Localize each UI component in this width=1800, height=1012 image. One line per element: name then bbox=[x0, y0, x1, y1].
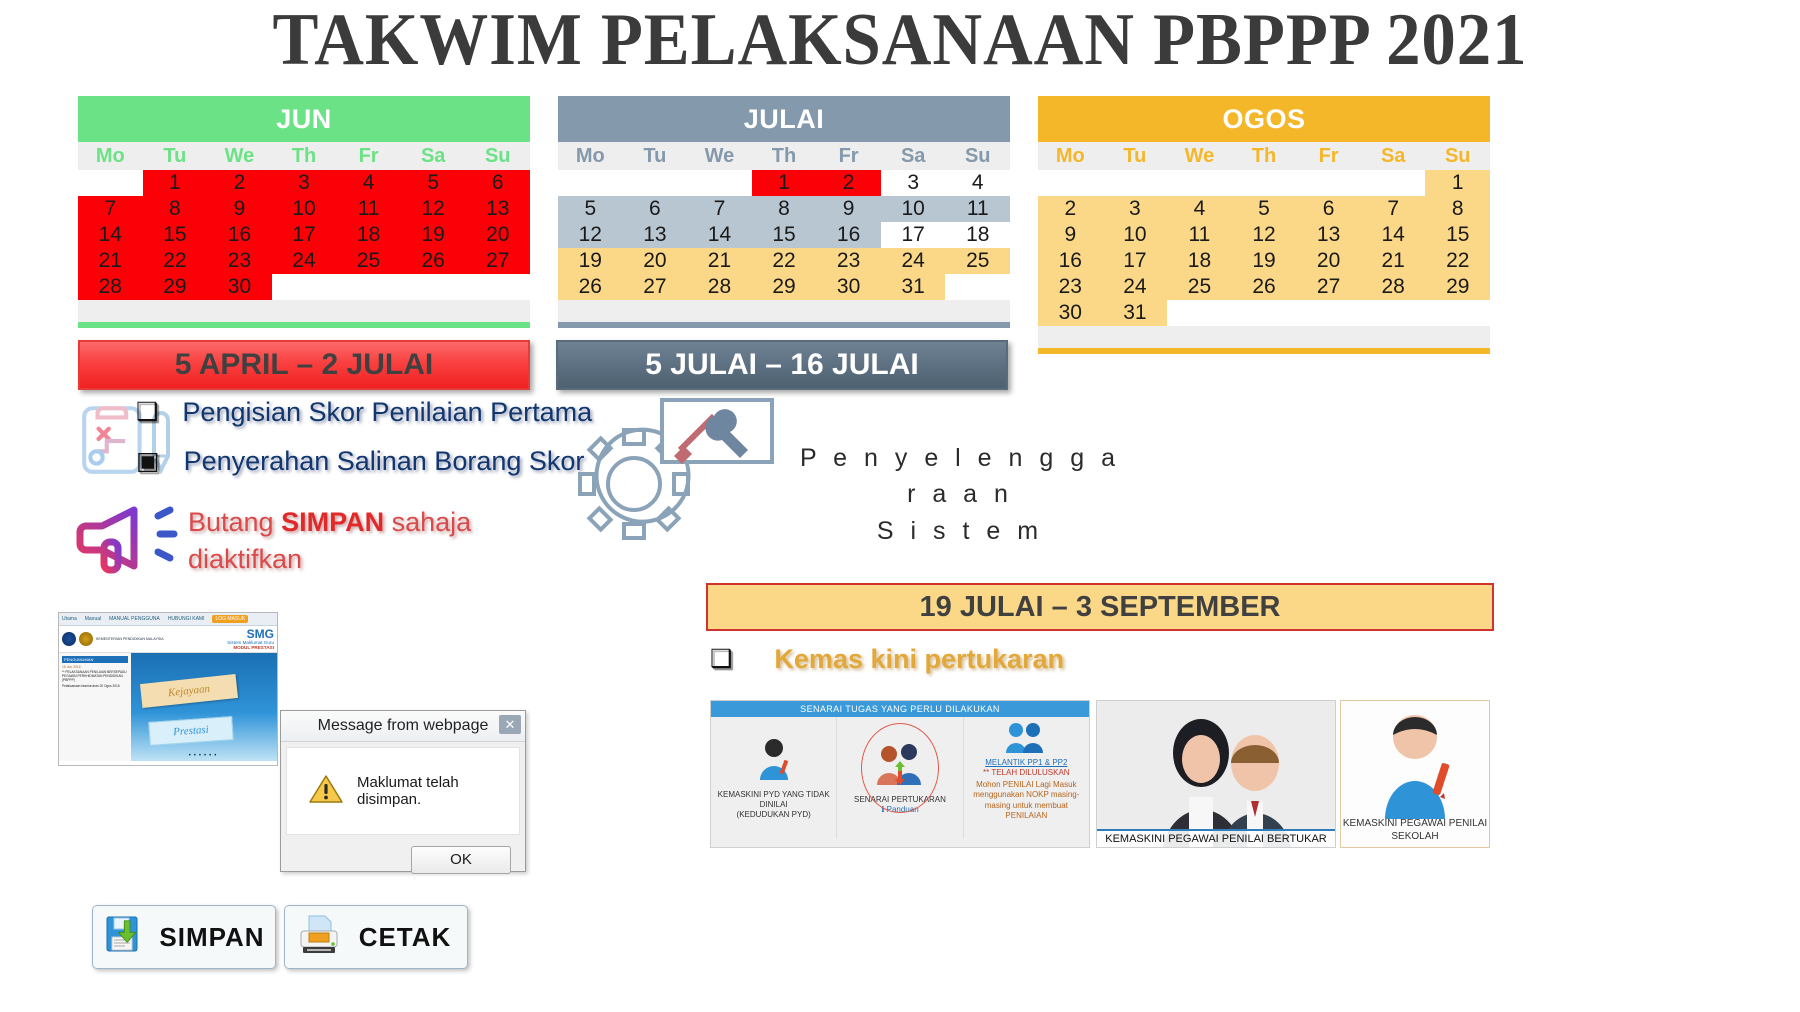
calendar-day-1: 1 bbox=[1425, 170, 1490, 196]
calendar-day-empty bbox=[1038, 170, 1103, 196]
close-icon[interactable]: ✕ bbox=[499, 715, 521, 734]
calendar-week-row: 9101112131415 bbox=[1038, 222, 1490, 248]
calendar-day-11: 11 bbox=[1167, 222, 1232, 248]
calendar-day-empty bbox=[1103, 170, 1168, 196]
thumb-cell-0-label2: (KEDUDUKAN PYD) bbox=[737, 810, 811, 820]
weekday-su: Su bbox=[945, 142, 1010, 170]
notice-body: ** PELAKSANAAN PENILAIAN BERSEPADU PEGAW… bbox=[62, 670, 128, 682]
save-disk-icon bbox=[103, 913, 149, 962]
calendar-day-23: 23 bbox=[1038, 274, 1103, 300]
calendar-week-row: 14151617181920 bbox=[78, 222, 530, 248]
checkbox-icon: ❑ bbox=[710, 647, 732, 672]
calendar-day-30: 30 bbox=[1038, 300, 1103, 326]
announcement-line-1: Butang SIMPAN sahaja bbox=[188, 507, 471, 538]
calendar-day-12: 12 bbox=[558, 222, 623, 248]
weekday-tu: Tu bbox=[1103, 142, 1168, 170]
calendar-day-28: 28 bbox=[1361, 274, 1426, 300]
calendar-week-row: 78910111213 bbox=[78, 196, 530, 222]
calendar-day-empty bbox=[1167, 300, 1232, 326]
weekday-sa: Sa bbox=[401, 142, 466, 170]
calendar-day-6: 6 bbox=[1296, 196, 1361, 222]
calendar-week-row: 23242526272829 bbox=[1038, 274, 1490, 300]
calendar-day-10: 10 bbox=[881, 196, 946, 222]
calendar-day-31: 31 bbox=[881, 274, 946, 300]
announcement-line-2: diaktifkan bbox=[188, 544, 471, 575]
calendar-accent-bar bbox=[1038, 348, 1490, 354]
calendar-day-4: 4 bbox=[1167, 196, 1232, 222]
calendar-day-3: 3 bbox=[1103, 196, 1168, 222]
calendar-week-row: 3031 bbox=[1038, 300, 1490, 326]
calendar-week-row: 1 bbox=[1038, 170, 1490, 196]
calendar-week-row: 16171819202122 bbox=[1038, 248, 1490, 274]
calendar-day-21: 21 bbox=[78, 248, 143, 274]
sgm-brand-line2: MODUL PRESTASI bbox=[227, 645, 274, 650]
calendar-header-julai: JULAI bbox=[558, 96, 1010, 142]
weekday-mo: Mo bbox=[1038, 142, 1103, 170]
calendar-day-7: 7 bbox=[1361, 196, 1426, 222]
calendar-day-8: 8 bbox=[1425, 196, 1490, 222]
calendar-day-8: 8 bbox=[752, 196, 817, 222]
sgm-nav-1: Manual bbox=[85, 616, 101, 622]
calendar-day-empty bbox=[272, 274, 337, 300]
calendar-day-12: 12 bbox=[401, 196, 466, 222]
calendar-day-11: 11 bbox=[945, 196, 1010, 222]
calendar-day-1: 1 bbox=[143, 170, 208, 196]
thumbnail-caption-bertukar: KEMASKINI PEGAWAI PENILAI BERTUKAR bbox=[1097, 829, 1335, 847]
calendar-day-empty bbox=[1167, 170, 1232, 196]
couple-photo-icon bbox=[1097, 701, 1335, 847]
announcement-strong: SIMPAN bbox=[281, 507, 384, 537]
calendar-ogos: OGOSMoTuWeThFrSaSu1234567891011121314151… bbox=[1038, 96, 1490, 354]
calendar-day-29: 29 bbox=[143, 274, 208, 300]
calendar-day-25: 25 bbox=[336, 248, 401, 274]
calendar-day-9: 9 bbox=[816, 196, 881, 222]
task-right-label: Kemas kini pertukaran bbox=[774, 644, 1064, 675]
calendar-day-25: 25 bbox=[1167, 274, 1232, 300]
thumbnail-pegawai-penilai-sekolah: KEMASKINI PEGAWAI PENILAI SEKOLAH bbox=[1340, 700, 1490, 848]
calendar-day-22: 22 bbox=[752, 248, 817, 274]
calendar-day-21: 21 bbox=[687, 248, 752, 274]
calendar-day-empty bbox=[1296, 170, 1361, 196]
banner-5-julai-16-julai: 5 JULAI – 16 JULAI bbox=[556, 340, 1008, 390]
calendar-week-row: 12131415161718 bbox=[558, 222, 1010, 248]
calendar-day-empty bbox=[1361, 300, 1426, 326]
checkbox-checked-icon: ▣ bbox=[136, 449, 160, 474]
weekday-su: Su bbox=[1425, 142, 1490, 170]
weekday-fr: Fr bbox=[816, 142, 881, 170]
sgm-nav-2: MANUAL PENGGUNA bbox=[109, 616, 160, 622]
notice-body-2: Pelaksanaan keseluruhan 20 Ogos 2016 bbox=[62, 684, 128, 688]
calendar-day-empty bbox=[945, 274, 1010, 300]
page-title: TAKWIM PELAKSANAAN PBPPP 2021 bbox=[63, 0, 1737, 83]
task-item-1: ▣ Penyerahan Salinan Borang Skor bbox=[136, 446, 584, 477]
calendar-jun: JUNMoTuWeThFrSaSu12345678910111213141516… bbox=[78, 96, 530, 328]
thumbnail-caption-sekolah: KEMASKINI PEGAWAI PENILAI SEKOLAH bbox=[1341, 818, 1489, 843]
calendar-day-30: 30 bbox=[816, 274, 881, 300]
calendar-weekday-row: MoTuWeThFrSaSu bbox=[558, 142, 1010, 170]
notice-title: PENGUMUMAN bbox=[62, 656, 128, 663]
calendar-day-empty bbox=[1232, 170, 1297, 196]
calendar-week-row: 567891011 bbox=[558, 196, 1010, 222]
warning-triangle-icon bbox=[309, 774, 343, 809]
calendar-week-row: 282930 bbox=[78, 274, 530, 300]
calendar-day-empty bbox=[1232, 300, 1297, 326]
weekday-tu: Tu bbox=[623, 142, 688, 170]
calendar-weekday-row: MoTuWeThFrSaSu bbox=[1038, 142, 1490, 170]
thumb-cell-0-label1: KEMASKINI PYD YANG TIDAK DINILAI bbox=[715, 790, 832, 810]
ribbon-kejayaan: Kejayaan bbox=[140, 674, 238, 708]
calendar-day-29: 29 bbox=[752, 274, 817, 300]
weekday-th: Th bbox=[1232, 142, 1297, 170]
sgm-nav-3: HUBUNGI KAMI bbox=[168, 616, 205, 622]
thumbnail-senarai-tugas: SENARAI TUGAS YANG PERLU DILAKUKAN KEMAS… bbox=[710, 700, 1090, 848]
calendar-day-22: 22 bbox=[143, 248, 208, 274]
calendar-week-row: 262728293031 bbox=[558, 274, 1010, 300]
ministry-logo-icon bbox=[62, 632, 76, 646]
calendar-day-empty bbox=[623, 170, 688, 196]
calendar-day-6: 6 bbox=[623, 196, 688, 222]
calendar-day-17: 17 bbox=[1103, 248, 1168, 274]
calendar-day-15: 15 bbox=[143, 222, 208, 248]
calendar-day-empty bbox=[401, 274, 466, 300]
calendar-julai: JULAIMoTuWeThFrSaSu123456789101112131415… bbox=[558, 96, 1010, 328]
calendar-grid: 1234567891011121314151617181920212223242… bbox=[558, 170, 1010, 300]
printer-icon bbox=[295, 913, 343, 962]
task-right: ❑ Kemas kini pertukaran bbox=[710, 644, 1064, 675]
calendar-day-13: 13 bbox=[623, 222, 688, 248]
cetak-button[interactable]: CETAK bbox=[284, 905, 468, 969]
calendar-day-28: 28 bbox=[78, 274, 143, 300]
calendar-day-empty bbox=[78, 170, 143, 196]
dialog-title: Message from webpage bbox=[318, 717, 489, 735]
calendar-day-13: 13 bbox=[465, 196, 530, 222]
dialog-titlebar: Message from webpage ✕ bbox=[281, 711, 525, 742]
weekday-sa: Sa bbox=[1361, 142, 1426, 170]
calendar-week-row: 21222324252627 bbox=[78, 248, 530, 274]
weekday-tu: Tu bbox=[143, 142, 208, 170]
banner-19-julai-3-september: 19 JULAI – 3 SEPTEMBER bbox=[706, 583, 1494, 631]
thumb-cell-2-label2: ** TELAH DILULUSKAN bbox=[983, 768, 1070, 778]
task-item-0: ❑ Pengisian Skor Penilaian Pertama bbox=[136, 397, 592, 428]
calendar-footer bbox=[78, 300, 530, 322]
calendar-day-12: 12 bbox=[1232, 222, 1297, 248]
maintenance-line-2: S i s t e m bbox=[790, 513, 1130, 549]
calendar-week-row: 2345678 bbox=[1038, 196, 1490, 222]
calendar-header-ogos: OGOS bbox=[1038, 96, 1490, 142]
calendar-day-21: 21 bbox=[1361, 248, 1426, 274]
calendar-day-empty bbox=[1361, 170, 1426, 196]
calendar-day-10: 10 bbox=[272, 196, 337, 222]
dialog-footer: OK bbox=[281, 840, 525, 890]
announcement-text: Butang SIMPAN sahaja diaktifkan bbox=[188, 507, 471, 575]
calendar-grid: 1234567891011121314151617181920212223242… bbox=[1038, 170, 1490, 326]
ribbon-prestasi: Prestasi bbox=[148, 716, 233, 746]
person-pencil-icon bbox=[754, 736, 794, 784]
calendar-day-16: 16 bbox=[816, 222, 881, 248]
jata-logo-icon bbox=[79, 632, 93, 646]
calendar-day-11: 11 bbox=[336, 196, 401, 222]
calendar-day-19: 19 bbox=[1232, 248, 1297, 274]
weekday-th: Th bbox=[272, 142, 337, 170]
ok-button[interactable]: OK bbox=[411, 846, 511, 874]
dialog-body: Maklumat telah disimpan. bbox=[286, 747, 520, 835]
calendar-day-27: 27 bbox=[623, 274, 688, 300]
calendar-day-14: 14 bbox=[78, 222, 143, 248]
weekday-we: We bbox=[207, 142, 272, 170]
calendar-grid: 1234567891011121314151617181920212223242… bbox=[78, 170, 530, 300]
simpan-button[interactable]: SIMPAN bbox=[92, 905, 276, 969]
weekday-mo: Mo bbox=[558, 142, 623, 170]
weekday-mo: Mo bbox=[78, 142, 143, 170]
calendar-day-24: 24 bbox=[881, 248, 946, 274]
calendar-day-empty bbox=[687, 170, 752, 196]
banner-5-april-2-julai: 5 APRIL – 2 JULAI bbox=[78, 340, 530, 390]
simpan-button-label: SIMPAN bbox=[149, 922, 275, 953]
banner-slate-label: 5 JULAI – 16 JULAI bbox=[645, 348, 918, 382]
calendar-day-14: 14 bbox=[1361, 222, 1426, 248]
calendar-day-22: 22 bbox=[1425, 248, 1490, 274]
weekday-we: We bbox=[1167, 142, 1232, 170]
calendar-day-19: 19 bbox=[401, 222, 466, 248]
calendar-week-row: 1234 bbox=[558, 170, 1010, 196]
calendar-footer bbox=[558, 300, 1010, 322]
carousel-dots-icon: •••••• bbox=[131, 753, 277, 759]
calendar-day-28: 28 bbox=[687, 274, 752, 300]
calendar-day-17: 17 bbox=[881, 222, 946, 248]
banner-amber-label: 19 JULAI – 3 SEPTEMBER bbox=[920, 591, 1281, 624]
banner-red-label: 5 APRIL – 2 JULAI bbox=[175, 348, 433, 382]
calendar-footer bbox=[1038, 326, 1490, 348]
calendar-day-27: 27 bbox=[465, 248, 530, 274]
calendar-day-19: 19 bbox=[558, 248, 623, 274]
calendar-week-row: 123456 bbox=[78, 170, 530, 196]
calendar-day-18: 18 bbox=[945, 222, 1010, 248]
gear-tools-icon bbox=[562, 392, 792, 544]
megaphone-icon bbox=[74, 500, 198, 574]
calendar-day-24: 24 bbox=[1103, 274, 1168, 300]
calendar-day-2: 2 bbox=[816, 170, 881, 196]
calendar-day-14: 14 bbox=[687, 222, 752, 248]
calendar-day-26: 26 bbox=[558, 274, 623, 300]
calendar-day-31: 31 bbox=[1103, 300, 1168, 326]
calendar-day-27: 27 bbox=[1296, 274, 1361, 300]
weekday-we: We bbox=[687, 142, 752, 170]
sgm-brand-abbr: SMG bbox=[227, 628, 274, 640]
calendar-day-empty bbox=[558, 170, 623, 196]
calendar-day-5: 5 bbox=[401, 170, 466, 196]
sgm-nav-0: Utama bbox=[62, 616, 77, 622]
calendar-week-row: 19202122232425 bbox=[558, 248, 1010, 274]
calendar-day-18: 18 bbox=[336, 222, 401, 248]
calendar-day-29: 29 bbox=[1425, 274, 1490, 300]
calendar-day-9: 9 bbox=[1038, 222, 1103, 248]
calendar-day-2: 2 bbox=[207, 170, 272, 196]
calendar-day-13: 13 bbox=[1296, 222, 1361, 248]
calendar-day-25: 25 bbox=[945, 248, 1010, 274]
sgm-portal-screenshot: Utama Manual MANUAL PENGGUNA HUBUNGI KAM… bbox=[58, 612, 278, 766]
calendar-day-30: 30 bbox=[207, 274, 272, 300]
calendar-day-23: 23 bbox=[207, 248, 272, 274]
task-item-0-label: Pengisian Skor Penilaian Pertama bbox=[182, 397, 592, 428]
calendar-day-2: 2 bbox=[1038, 196, 1103, 222]
calendar-day-20: 20 bbox=[465, 222, 530, 248]
weekday-fr: Fr bbox=[336, 142, 401, 170]
calendar-day-18: 18 bbox=[1167, 248, 1232, 274]
calendar-day-17: 17 bbox=[272, 222, 337, 248]
weekday-su: Su bbox=[465, 142, 530, 170]
calendar-day-26: 26 bbox=[401, 248, 466, 274]
announcement-prefix: Butang bbox=[188, 507, 281, 537]
calendar-day-20: 20 bbox=[623, 248, 688, 274]
calendar-day-24: 24 bbox=[272, 248, 337, 274]
calendar-header-jun: JUN bbox=[78, 96, 530, 142]
calendar-day-15: 15 bbox=[752, 222, 817, 248]
maintenance-line-1: P e n y e l e n g g a r a a n bbox=[790, 440, 1130, 513]
calendar-day-7: 7 bbox=[687, 196, 752, 222]
calendar-day-5: 5 bbox=[1232, 196, 1297, 222]
group-people-icon bbox=[1003, 721, 1049, 755]
calendar-day-empty bbox=[336, 274, 401, 300]
calendar-day-4: 4 bbox=[945, 170, 1010, 196]
teacher-pencil-icon bbox=[1341, 701, 1489, 821]
calendar-day-20: 20 bbox=[1296, 248, 1361, 274]
maintenance-text: P e n y e l e n g g a r a a n S i s t e … bbox=[790, 440, 1130, 549]
calendar-day-8: 8 bbox=[143, 196, 208, 222]
calendar-day-5: 5 bbox=[558, 196, 623, 222]
calendar-accent-bar bbox=[558, 322, 1010, 328]
calendar-day-empty bbox=[465, 274, 530, 300]
calendar-day-10: 10 bbox=[1103, 222, 1168, 248]
sgm-nav-login: LOG MASUK bbox=[212, 615, 248, 623]
thumb-cell-2-label1: MELANTIK PP1 & PP2 bbox=[985, 758, 1067, 768]
calendar-day-1: 1 bbox=[752, 170, 817, 196]
dialog-message: Maklumat telah disimpan. bbox=[357, 774, 519, 808]
calendar-day-9: 9 bbox=[207, 196, 272, 222]
calendar-accent-bar bbox=[78, 322, 530, 328]
weekday-fr: Fr bbox=[1296, 142, 1361, 170]
task-item-1-label: Penyerahan Salinan Borang Skor bbox=[184, 446, 585, 477]
thumbnail-pegawai-penilai-bertukar: KEMASKINI PEGAWAI PENILAI BERTUKAR bbox=[1096, 700, 1336, 848]
calendar-day-4: 4 bbox=[336, 170, 401, 196]
weekday-sa: Sa bbox=[881, 142, 946, 170]
announcement-suffix: sahaja bbox=[384, 507, 471, 537]
calendar-day-7: 7 bbox=[78, 196, 143, 222]
calendar-day-15: 15 bbox=[1425, 222, 1490, 248]
ministry-label: KEMENTERIAN PENDIDIKAN MALAYSIA bbox=[96, 637, 164, 641]
calendar-day-16: 16 bbox=[207, 222, 272, 248]
checkbox-icon: ❑ bbox=[136, 400, 158, 425]
calendar-day-26: 26 bbox=[1232, 274, 1297, 300]
calendar-day-empty bbox=[1296, 300, 1361, 326]
calendar-weekday-row: MoTuWeThFrSaSu bbox=[78, 142, 530, 170]
calendar-day-16: 16 bbox=[1038, 248, 1103, 274]
calendar-day-3: 3 bbox=[272, 170, 337, 196]
calendar-day-empty bbox=[1425, 300, 1490, 326]
notice-date: 15 Jun 2016 bbox=[62, 665, 128, 669]
thumb-header: SENARAI TUGAS YANG PERLU DILAKUKAN bbox=[711, 701, 1089, 717]
calendar-day-6: 6 bbox=[465, 170, 530, 196]
thumb-cell-2-label3: Mohon PENILAI Lagi Masuk menggunakan NOK… bbox=[968, 780, 1085, 822]
message-dialog: Message from webpage ✕ Maklumat telah di… bbox=[280, 710, 526, 872]
calendar-day-23: 23 bbox=[816, 248, 881, 274]
cetak-button-label: CETAK bbox=[343, 922, 467, 953]
weekday-th: Th bbox=[752, 142, 817, 170]
calendar-day-3: 3 bbox=[881, 170, 946, 196]
